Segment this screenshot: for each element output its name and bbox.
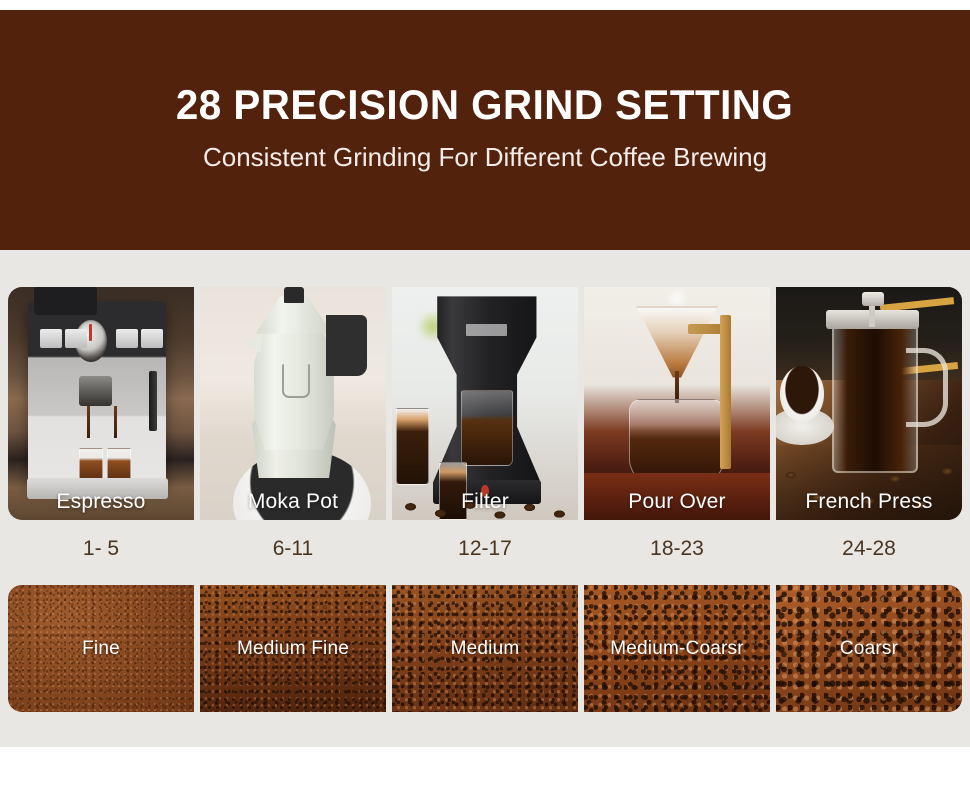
brew-method-card-filter[interactable]: Filter [392,287,578,520]
espresso-machine-photo [8,287,194,520]
grind-range-value: 12-17 [392,528,578,570]
grind-texture-card-medium-fine[interactable]: Medium Fine [200,585,386,712]
grind-texture-label: Coarsr [776,585,962,712]
grind-texture-card-fine[interactable]: Fine [8,585,194,712]
header-band: 28 PRECISION GRIND SETTING Consistent Gr… [0,10,970,250]
promo-page: 28 PRECISION GRIND SETTING Consistent Gr… [0,0,970,790]
brew-method-label: Moka Pot [200,490,386,514]
grind-texture-label: Medium [392,585,578,712]
grind-texture-label: Medium-Coarsr [584,585,770,712]
grind-texture-card-medium-coarse[interactable]: Medium-Coarsr [584,585,770,712]
brew-method-card-pour-over[interactable]: Pour Over [584,287,770,520]
brew-method-row: Espresso Moka Pot [8,287,962,520]
moka-pot-photo [200,287,386,520]
content-section: Espresso Moka Pot [0,250,970,747]
brew-method-card-espresso[interactable]: Espresso [8,287,194,520]
brew-method-label: Pour Over [584,490,770,514]
grind-range-value: 24-28 [776,528,962,570]
grind-texture-label: Fine [8,585,194,712]
brew-method-label: Espresso [8,490,194,514]
grind-texture-card-medium[interactable]: Medium [392,585,578,712]
page-title: 28 PRECISION GRIND SETTING [176,83,793,127]
page-subtitle: Consistent Grinding For Different Coffee… [203,143,767,172]
filter-coffee-machine-photo [392,287,578,520]
brew-method-label: Filter [392,490,578,514]
grind-texture-card-coarse[interactable]: Coarsr [776,585,962,712]
brew-method-label: French Press [776,490,962,514]
grind-range-row: 1- 5 6-11 12-17 18-23 24-28 [8,528,962,570]
grind-range-value: 18-23 [584,528,770,570]
grind-texture-row: Fine Medium Fine Medium Medium-Coarsr Co… [8,585,962,712]
grind-range-value: 6-11 [200,528,386,570]
brew-method-card-french-press[interactable]: French Press [776,287,962,520]
pour-over-dripper-photo [584,287,770,520]
french-press-photo [776,287,962,520]
grind-range-value: 1- 5 [8,528,194,570]
grind-texture-label: Medium Fine [200,585,386,712]
brew-method-card-moka-pot[interactable]: Moka Pot [200,287,386,520]
